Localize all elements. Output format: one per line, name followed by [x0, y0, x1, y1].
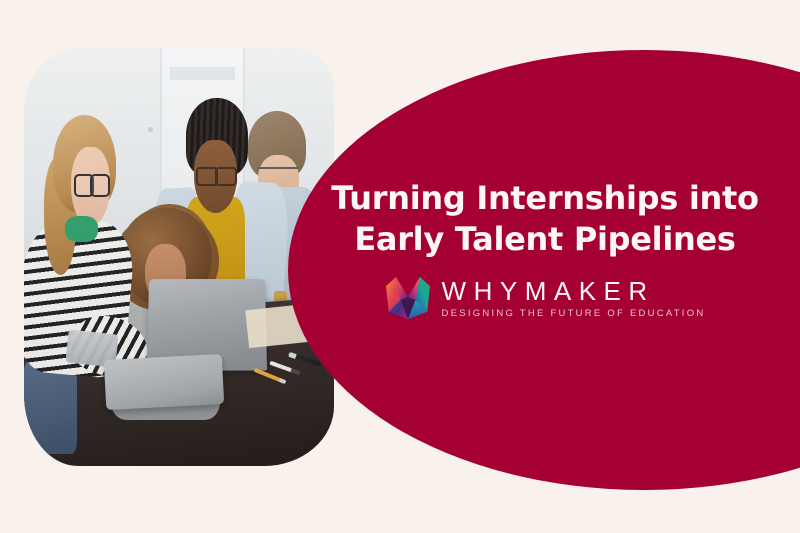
headline-line-1: Turning Internships into — [300, 178, 790, 219]
team-photo — [24, 48, 334, 466]
page-title: Turning Internships into Early Talent Pi… — [300, 178, 790, 260]
logo-tagline: DESIGNING THE FUTURE OF EDUCATION — [442, 309, 706, 319]
green-collar — [65, 216, 98, 242]
eyeglasses-icon — [196, 167, 237, 182]
photo-content — [24, 48, 334, 466]
whymaker-logo: WHYMAKER DESIGNING THE FUTURE OF EDUCATI… — [300, 276, 790, 320]
whymaker-m-mark-icon — [385, 276, 431, 320]
content-block: Turning Internships into Early Talent Pi… — [300, 178, 790, 320]
logo-wordmark: WHYMAKER — [442, 278, 655, 304]
slide-canvas: Turning Internships into Early Talent Pi… — [0, 0, 800, 533]
closed-laptop — [103, 354, 223, 410]
eyeglasses-icon — [74, 174, 110, 194]
logo-text-block: WHYMAKER DESIGNING THE FUTURE OF EDUCATI… — [442, 278, 706, 319]
headline-line-2: Early Talent Pipelines — [300, 219, 790, 260]
